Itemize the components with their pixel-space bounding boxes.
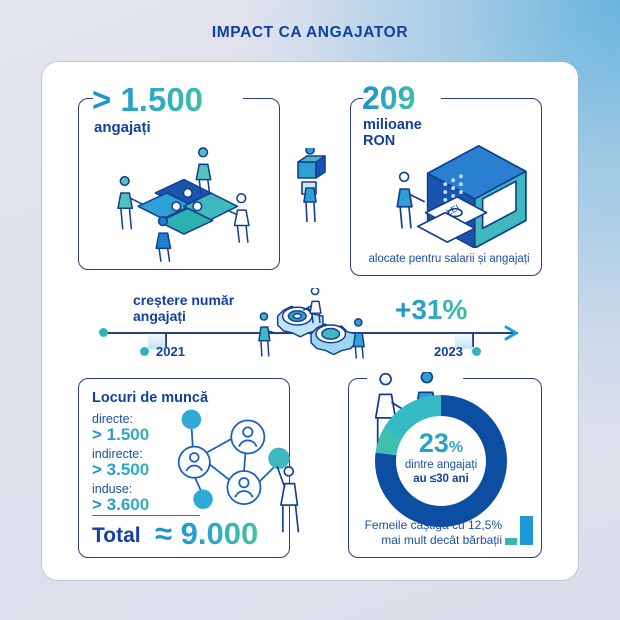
age-donut-line2: au ≤30 ani xyxy=(375,473,507,485)
timeline-start-dot xyxy=(99,328,108,337)
timeline-year-2021-dot xyxy=(140,347,149,356)
employees-value: > 1.500 xyxy=(92,83,203,116)
jobs-total-label: Total xyxy=(92,524,141,548)
age-donut-line1: dintre angajați xyxy=(375,459,507,471)
teamwork-puzzle-illustration xyxy=(96,142,268,264)
growth-label: creștere număr angajați xyxy=(133,293,234,324)
timeline-arrow-icon xyxy=(504,325,524,341)
growth-value: +31% xyxy=(395,296,467,324)
bar-chart-icon-bar-small xyxy=(505,538,517,545)
budget-value: 209 xyxy=(362,82,415,114)
atm-payment-machine-illustration: LEI xyxy=(388,140,536,248)
page-title: IMPACT CA ANGAJATOR xyxy=(0,24,620,42)
infographic-canvas: IMPACT CA ANGAJATOR > 1.500 angajați xyxy=(0,0,620,620)
age-caption-line1: Femeile câștigă cu 12,5% xyxy=(360,518,502,533)
jobs-row-1-label: indirecte: xyxy=(92,447,143,461)
jobs-row-2-label: induse: xyxy=(92,482,132,496)
delivery-person-illustration xyxy=(290,148,334,228)
budget-caption: alocate pentru salarii și angajați xyxy=(363,252,535,266)
jobs-row-2-value: > 3.600 xyxy=(92,495,149,515)
network-nodes-illustration xyxy=(168,400,314,540)
age-percent-sign: % xyxy=(449,439,463,456)
jobs-row-1-value: > 3.500 xyxy=(92,460,149,480)
timeline-year-2021: 2021 xyxy=(156,344,185,359)
gears-illustration xyxy=(256,288,374,360)
age-percent-value: 23 xyxy=(419,428,449,458)
jobs-row-0-label: directe: xyxy=(92,412,133,426)
timeline-year-2023-dot xyxy=(472,347,481,356)
timeline-year-2023: 2023 xyxy=(434,344,463,359)
employees-label: angajați xyxy=(94,120,151,137)
jobs-row-0-value: > 1.500 xyxy=(92,425,149,445)
age-caption-line2: mai mult decât bărbații xyxy=(360,533,502,548)
age-donut-percent: 23% xyxy=(375,428,507,459)
bar-chart-icon-bar-large xyxy=(520,516,533,545)
